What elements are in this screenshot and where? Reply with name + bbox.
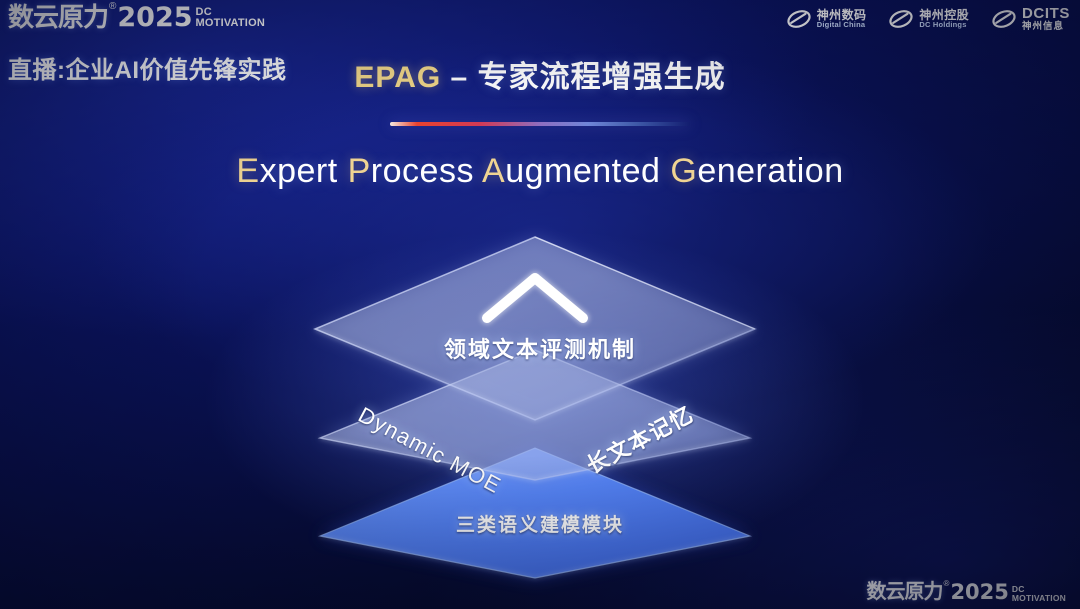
subtitle-word-augmented: ugmented <box>505 152 670 190</box>
swirl-icon <box>888 8 914 30</box>
watermark-dc-bottom: MOTIVATION <box>1012 594 1066 603</box>
event-brand-logo: 数云原力 ® 2025 DC MOTIVATION <box>8 4 265 31</box>
brand-registered-icon: ® <box>109 1 116 12</box>
title-divider <box>390 122 690 126</box>
corp-logo-dc-holdings: 神州控股 DC Holdings <box>888 8 969 30</box>
corp-name-cn-secondary: 神州信息 <box>1022 22 1070 32</box>
corp-name-en: Digital China <box>817 21 867 29</box>
subtitle-word-expert: xpert <box>260 152 348 190</box>
page-subtitle-english: Expert Process Augmented Generation <box>0 152 1080 191</box>
corp-logo-dcits: DCITS 神州信息 <box>991 6 1070 32</box>
page-title-acronym: EPAG <box>354 61 441 94</box>
watermark-dc-motivation: DC MOTIVATION <box>1012 585 1066 602</box>
brand-dc-motivation: DC MOTIVATION <box>196 7 265 29</box>
brand-name-cn: 数云原力 <box>8 4 108 30</box>
corp-name-en-primary: DCITS <box>1022 6 1070 22</box>
page-title-chinese: 专家流程增强生成 <box>478 61 726 94</box>
corporate-logo-group: 神州数码 Digital China 神州控股 DC Holdings DCIT… <box>786 6 1070 32</box>
subtitle-initial-e: E <box>236 152 259 190</box>
subtitle-initial-p: P <box>348 152 371 190</box>
watermark-registered-icon: ® <box>944 579 950 588</box>
subtitle-initial-a: A <box>482 152 505 190</box>
corp-logo-digital-china: 神州数码 Digital China <box>786 8 867 30</box>
subtitle-word-generation: eneration <box>697 152 843 190</box>
brand-dc-bottom: MOTIVATION <box>196 18 265 29</box>
subtitle-word-process: rocess <box>371 152 482 190</box>
page-title: EPAG – 专家流程增强生成 <box>0 52 1080 96</box>
footer-watermark-logo: 数云原力 ® 2025 DC MOTIVATION <box>867 582 1066 603</box>
brand-year: 2025 <box>117 4 192 31</box>
corp-name-en: DC Holdings <box>919 21 969 29</box>
swirl-icon <box>786 8 812 30</box>
watermark-year: 2025 <box>950 582 1008 603</box>
watermark-name-cn: 数云原力 <box>867 582 943 602</box>
page-title-dash: – <box>441 61 477 94</box>
swirl-icon <box>991 8 1017 30</box>
presentation-slide: 领域文本评测机制 Dynamic MOE 长文本记忆 三类语义建模模块 数云原力… <box>0 0 1080 609</box>
subtitle-initial-g: G <box>670 152 697 190</box>
